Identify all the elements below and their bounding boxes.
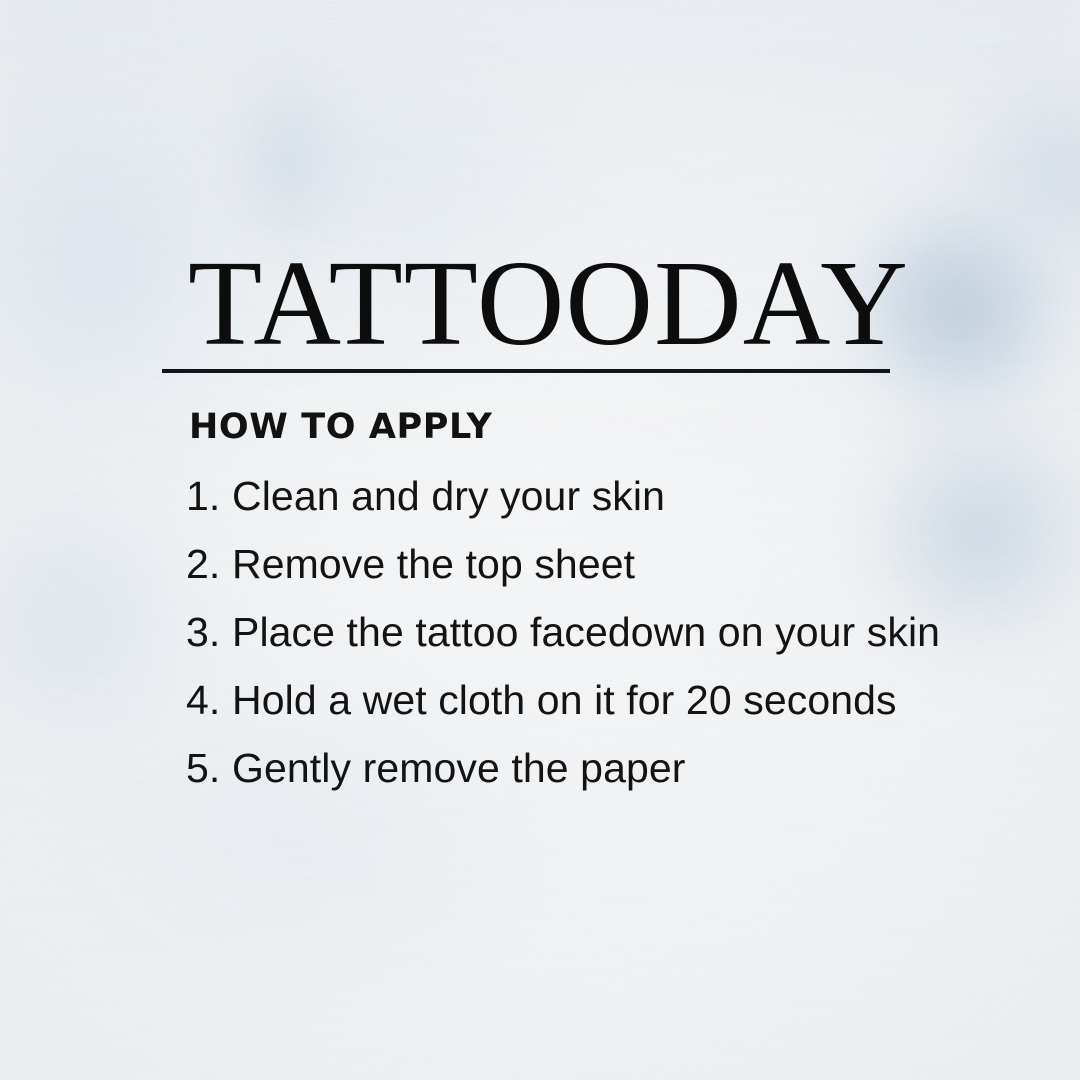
step-text: Gently remove the paper xyxy=(232,734,686,802)
section-heading-how-to-apply: HOW TO APPLY xyxy=(189,407,492,447)
list-item: 5. Gently remove the paper xyxy=(186,734,1046,802)
step-number: 5. xyxy=(186,734,218,802)
list-item: 1. Clean and dry your skin xyxy=(186,462,1046,530)
list-item: 2. Remove the top sheet xyxy=(186,530,1046,598)
card-content: TATTOODAY HOW TO APPLY 1. Clean and dry … xyxy=(0,0,1080,1080)
instruction-card: TATTOODAY HOW TO APPLY 1. Clean and dry … xyxy=(0,0,1080,1080)
list-item: 3. Place the tattoo facedown on your ski… xyxy=(186,598,1046,666)
step-number: 3. xyxy=(186,598,218,666)
step-number: 1. xyxy=(186,462,218,530)
step-text: Place the tattoo facedown on your skin xyxy=(232,598,940,666)
step-text: Hold a wet cloth on it for 20 seconds xyxy=(232,666,897,734)
instruction-steps-list: 1. Clean and dry your skin 2. Remove the… xyxy=(186,462,1046,802)
title-divider-rule xyxy=(162,369,890,373)
step-text: Remove the top sheet xyxy=(232,530,635,598)
brand-title: TATTOODAY xyxy=(188,243,885,365)
step-number: 2. xyxy=(186,530,218,598)
list-item: 4. Hold a wet cloth on it for 20 seconds xyxy=(186,666,1046,734)
step-number: 4. xyxy=(186,666,218,734)
step-text: Clean and dry your skin xyxy=(232,462,665,530)
